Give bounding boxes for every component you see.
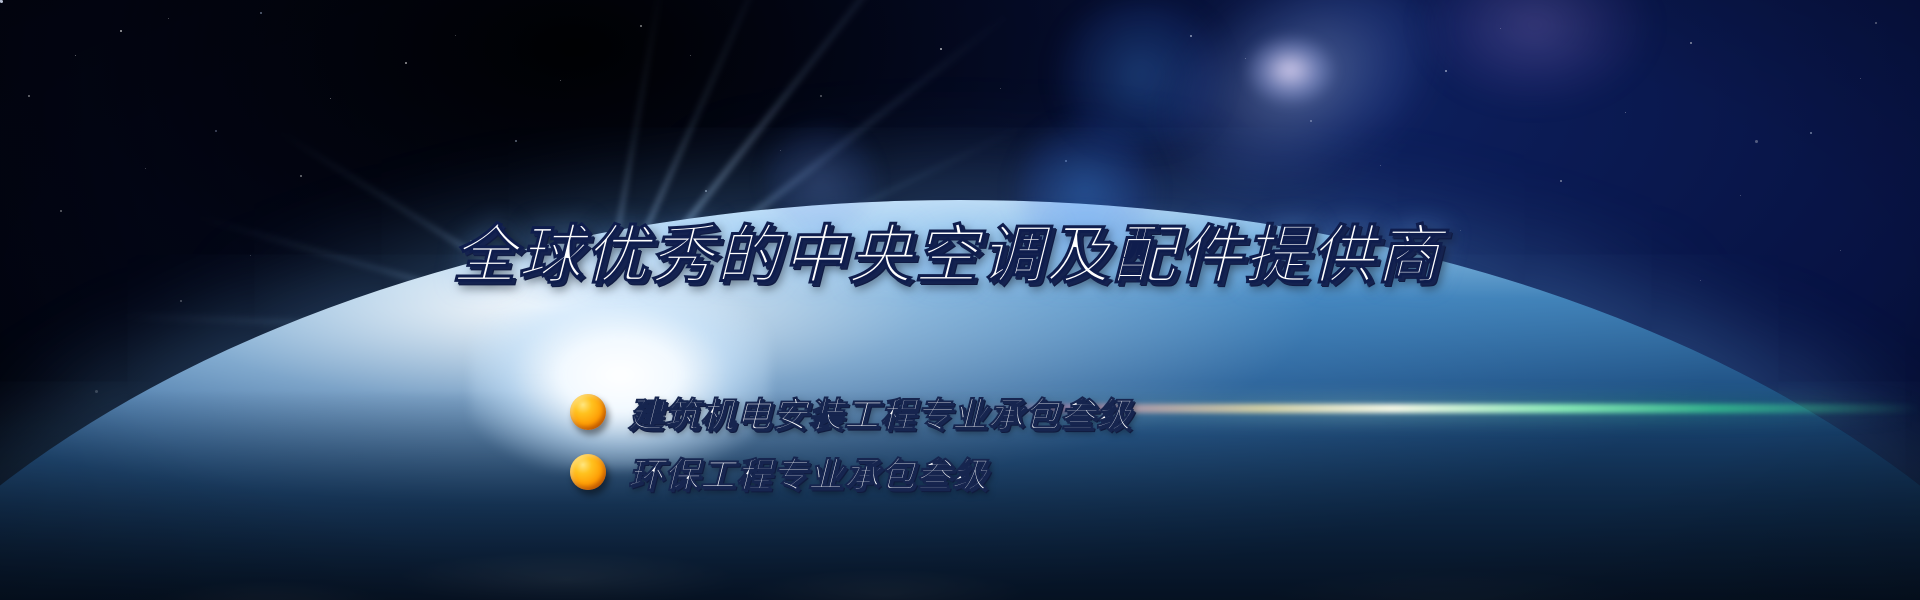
list-item: 环保工程专业承包叁级: [570, 442, 1132, 502]
bullet-dot-icon: [570, 394, 606, 430]
list-item: 建筑机电安装工程专业承包叁级: [570, 382, 1132, 442]
banner-content: 全球优秀的中央空调及配件提供商 建筑机电安装工程专业承包叁级 环保工程专业承包叁…: [0, 0, 1920, 600]
feature-list: 建筑机电安装工程专业承包叁级 环保工程专业承包叁级: [570, 382, 1132, 502]
list-item-label: 环保工程专业承包叁级: [628, 447, 988, 498]
hero-banner: 全球优秀的中央空调及配件提供商 建筑机电安装工程专业承包叁级 环保工程专业承包叁…: [0, 0, 1920, 600]
page-title: 全球优秀的中央空调及配件提供商: [452, 204, 1442, 296]
list-item-label: 建筑机电安装工程专业承包叁级: [628, 387, 1132, 438]
bullet-dot-icon: [570, 454, 606, 490]
